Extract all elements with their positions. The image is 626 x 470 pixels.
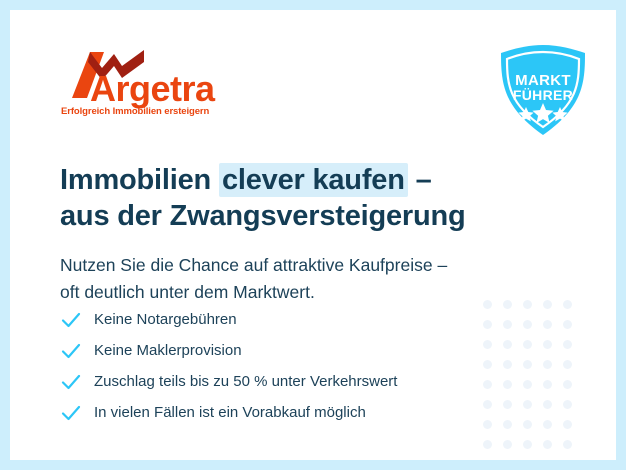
subheading: Nutzen Sie die Chance auf attraktive Kau… [60,252,560,306]
list-item: In vielen Fällen ist ein Vorabkauf mögli… [60,397,530,428]
markt-fuehrer-badge: MARKT FÜHRER [497,43,589,137]
benefit-label: Keine Notargebühren [94,310,237,330]
benefit-label: Zuschlag teils bis zu 50 % unter Verkehr… [94,372,397,392]
svg-text:FÜHRER: FÜHRER [513,87,573,103]
benefit-label: In vielen Fällen ist ein Vorabkauf mögli… [94,403,366,423]
decorative-dot [543,360,552,369]
page-title: Immobilien clever kaufen – aus der Zwang… [60,162,580,234]
list-item: Keine Notargebühren [60,304,530,335]
decorative-dot [563,400,572,409]
decorative-dot [543,320,552,329]
check-icon [60,402,82,424]
decorative-dot [543,440,552,449]
headline-line1-before: Immobilien [60,164,219,196]
decorative-dot [543,340,552,349]
headline-highlight: clever kaufen [219,163,408,197]
list-item: Keine Maklerprovision [60,335,530,366]
decorative-dot [563,360,572,369]
decorative-dot [523,440,532,449]
decorative-dot [563,340,572,349]
check-icon [60,371,82,393]
svg-text:Erfolgreich Immobilien ersteig: Erfolgreich Immobilien ersteigern [61,106,210,116]
subheading-line2: oft deutlich unter dem Marktwert. [60,279,560,306]
decorative-dot [483,440,492,449]
decorative-dot [543,380,552,389]
decorative-dot [563,380,572,389]
decorative-dot [563,420,572,429]
decorative-dot [543,420,552,429]
decorative-dot [563,300,572,309]
benefits-list: Keine Notargebühren Keine Maklerprovisio… [60,304,530,428]
decorative-dot [563,440,572,449]
argetra-logo-icon: Argetra Erfolgreich Immobilien ersteiger… [60,46,260,116]
check-icon [60,309,82,331]
benefit-label: Keine Maklerprovision [94,341,242,361]
decorative-dot [503,440,512,449]
promo-card: Argetra Erfolgreich Immobilien ersteiger… [10,10,616,460]
list-item: Zuschlag teils bis zu 50 % unter Verkehr… [60,366,530,397]
argetra-logo: Argetra Erfolgreich Immobilien ersteiger… [60,46,260,116]
headline-line2: aus der Zwangsversteigerung [60,198,580,234]
decorative-dot [563,320,572,329]
headline-line1-after: – [408,164,432,196]
check-icon [60,340,82,362]
decorative-dot [543,400,552,409]
svg-text:Argetra: Argetra [90,68,216,109]
shield-icon: MARKT FÜHRER [497,43,589,137]
subheading-line1: Nutzen Sie die Chance auf attraktive Kau… [60,252,560,279]
